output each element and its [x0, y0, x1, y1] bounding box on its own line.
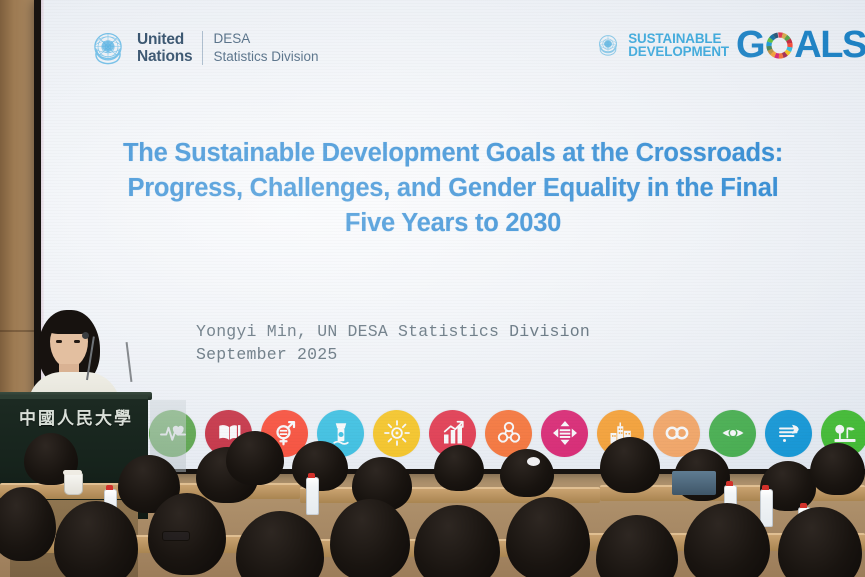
desa-line2: Statistics Division	[213, 48, 318, 66]
audience-head	[506, 497, 590, 577]
sdg-logo-lockup: SUSTAINABLE DEVELOPMENT G	[595, 26, 865, 64]
sdg-color-wheel-icon	[764, 30, 795, 61]
audience-seating	[0, 427, 865, 577]
audience-head	[330, 499, 410, 577]
audience-laptop	[672, 471, 716, 495]
audience-head	[226, 431, 284, 485]
slide-header: United Nations DESA Statistics Division	[41, 0, 865, 96]
audience-head	[684, 503, 770, 577]
audience-head	[500, 449, 554, 497]
hair-tie	[527, 457, 540, 466]
sdg-word-development: DEVELOPMENT	[628, 45, 729, 58]
audience-head	[778, 507, 862, 577]
slide-byline: Yongyi Min, UN DESA Statistics Division …	[196, 320, 590, 367]
sdg-sustainable-development-words: SUSTAINABLE DEVELOPMENT	[628, 32, 729, 59]
goals-letter-g: G	[736, 26, 764, 64]
desa-wordmark: DESA Statistics Division	[213, 30, 318, 66]
microphone-head-icon	[82, 332, 89, 339]
microphone-stand-secondary	[126, 342, 133, 382]
goals-letters-als: ALS	[794, 26, 865, 64]
sdg-word-sustainable: SUSTAINABLE	[628, 32, 729, 45]
water-bottle	[306, 477, 319, 515]
audience-head	[414, 505, 500, 577]
projection-screen: United Nations DESA Statistics Division	[41, 0, 865, 469]
un-emblem-small-icon	[595, 32, 621, 58]
water-bottle	[760, 489, 773, 527]
sdg-goals-wordmark: G	[736, 26, 865, 64]
logo-divider	[202, 31, 203, 65]
audience-head	[292, 441, 348, 491]
un-wordmark: United Nations	[137, 31, 192, 66]
presentation-photo: United Nations DESA Statistics Division	[0, 0, 865, 577]
audience-head	[434, 445, 484, 491]
audience-head	[54, 501, 138, 577]
desa-line1: DESA	[213, 30, 318, 48]
audience-head	[596, 515, 678, 577]
un-wordmark-group: United Nations DESA Statistics Division	[137, 30, 318, 66]
audience-head	[810, 443, 865, 495]
podium-venue-name: 中國人民大學	[6, 404, 146, 429]
un-desa-logo-lockup: United Nations DESA Statistics Division	[88, 28, 318, 68]
speaker-eye-right	[74, 340, 80, 343]
un-emblem-icon	[88, 28, 128, 68]
slide-title: The Sustainable Development Goals at the…	[101, 136, 805, 241]
eyeglasses	[162, 531, 190, 541]
audience-head	[236, 511, 324, 577]
audience-head	[600, 437, 660, 493]
paper-cup	[64, 473, 83, 495]
un-wordmark-line2: Nations	[137, 48, 192, 65]
un-wordmark-line1: United	[137, 31, 192, 48]
speaker-eye-left	[56, 340, 62, 343]
